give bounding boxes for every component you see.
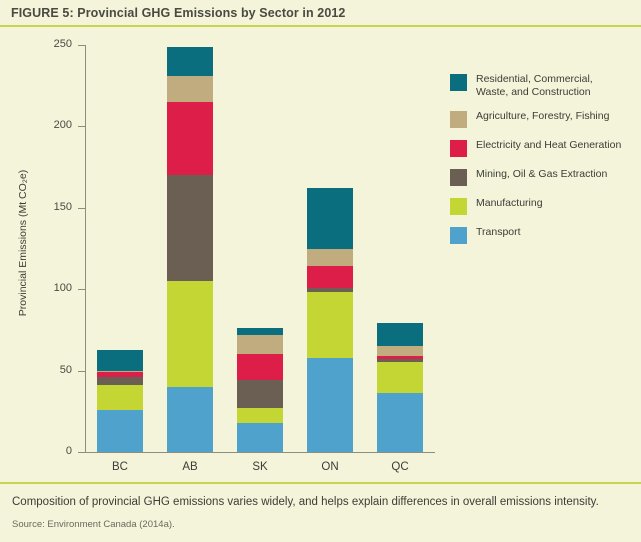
y-axis-tick <box>78 289 86 290</box>
y-axis-line <box>85 45 86 452</box>
legend-item-agriculture[interactable]: Agriculture, Forestry, Fishing <box>450 110 640 128</box>
bar-segment-transport[interactable] <box>237 423 283 452</box>
y-axis-tick <box>78 371 86 372</box>
legend-item-residential[interactable]: Residential, Commercial, Waste, and Cons… <box>450 73 640 99</box>
y-axis-title: Provincial Emissions (Mt CO₂e) <box>17 128 29 358</box>
bar-group-sk[interactable] <box>237 328 283 452</box>
bar-group-on[interactable] <box>307 188 353 452</box>
bar-segment-agriculture[interactable] <box>167 76 213 102</box>
x-axis-label-ab: AB <box>167 461 213 473</box>
x-axis-label-bc: BC <box>97 461 143 473</box>
bar-segment-agriculture[interactable] <box>237 335 283 355</box>
bar-segment-mining[interactable] <box>167 175 213 281</box>
y-axis-tick-label: 100 <box>28 282 72 294</box>
bar-segment-residential[interactable] <box>97 350 143 371</box>
bar-segment-manufacturing[interactable] <box>307 292 353 357</box>
bar-segment-residential[interactable] <box>167 47 213 76</box>
legend-label-residential: Residential, Commercial, Waste, and Cons… <box>476 73 593 99</box>
bar-segment-transport[interactable] <box>307 358 353 452</box>
x-axis-label-qc: QC <box>377 461 423 473</box>
y-axis-tick-label: 50 <box>28 364 72 376</box>
figure-title: FIGURE 5: Provincial GHG Emissions by Se… <box>11 6 345 20</box>
bar-segment-electricity[interactable] <box>167 102 213 175</box>
legend-swatch-manufacturing <box>450 198 467 215</box>
x-axis-label-sk: SK <box>237 461 283 473</box>
figure-container: FIGURE 5: Provincial GHG Emissions by Se… <box>0 0 641 542</box>
bar-group-ab[interactable] <box>167 47 213 452</box>
legend-swatch-residential <box>450 74 467 91</box>
bar-segment-transport[interactable] <box>167 387 213 452</box>
bar-stack <box>377 323 423 452</box>
legend-swatch-agriculture <box>450 111 467 128</box>
bar-segment-mining[interactable] <box>97 377 143 385</box>
x-axis-label-on: ON <box>307 461 353 473</box>
bar-stack <box>307 188 353 452</box>
bar-segment-agriculture[interactable] <box>377 346 423 356</box>
bar-segment-mining[interactable] <box>237 380 283 408</box>
legend-label-mining: Mining, Oil & Gas Extraction <box>476 168 607 181</box>
bar-segment-residential[interactable] <box>377 323 423 346</box>
bar-stack <box>167 47 213 452</box>
bar-group-qc[interactable] <box>377 323 423 452</box>
y-axis-tick <box>78 208 86 209</box>
legend-label-electricity: Electricity and Heat Generation <box>476 139 621 152</box>
bar-segment-transport[interactable] <box>97 410 143 452</box>
legend-swatch-electricity <box>450 140 467 157</box>
chart-legend: Residential, Commercial, Waste, and Cons… <box>450 73 640 255</box>
legend-item-mining[interactable]: Mining, Oil & Gas Extraction <box>450 168 640 186</box>
figure-header: FIGURE 5: Provincial GHG Emissions by Se… <box>0 0 641 27</box>
legend-item-electricity[interactable]: Electricity and Heat Generation <box>450 139 640 157</box>
chart-plot-region: 050100150200250 Provincial Emissions (Mt… <box>0 27 641 482</box>
y-axis-tick <box>78 45 86 46</box>
legend-label-manufacturing: Manufacturing <box>476 197 543 210</box>
legend-swatch-mining <box>450 169 467 186</box>
bar-segment-manufacturing[interactable] <box>97 385 143 409</box>
bar-group-bc[interactable] <box>97 350 143 452</box>
figure-caption: Composition of provincial GHG emissions … <box>12 495 629 510</box>
y-axis-tick-label: 0 <box>28 445 72 457</box>
y-axis-tick <box>78 452 86 453</box>
bar-segment-manufacturing[interactable] <box>167 281 213 387</box>
legend-item-transport[interactable]: Transport <box>450 226 640 244</box>
legend-label-agriculture: Agriculture, Forestry, Fishing <box>476 110 609 123</box>
legend-item-manufacturing[interactable]: Manufacturing <box>450 197 640 215</box>
y-axis-tick-label: 150 <box>28 201 72 213</box>
bar-segment-electricity[interactable] <box>307 266 353 287</box>
legend-swatch-transport <box>450 227 467 244</box>
figure-source: Source: Environment Canada (2014a). <box>12 519 629 530</box>
bar-stack <box>97 350 143 452</box>
x-axis-line <box>85 452 435 453</box>
legend-label-transport: Transport <box>476 226 521 239</box>
y-axis-tick-label: 250 <box>28 38 72 50</box>
bar-segment-residential[interactable] <box>307 188 353 248</box>
bar-segment-manufacturing[interactable] <box>377 362 423 393</box>
bar-segment-transport[interactable] <box>377 393 423 452</box>
y-axis-tick-label: 200 <box>28 119 72 131</box>
bar-segment-agriculture[interactable] <box>307 249 353 267</box>
bar-segment-manufacturing[interactable] <box>237 408 283 423</box>
y-axis-tick <box>78 126 86 127</box>
figure-footer: Composition of provincial GHG emissions … <box>0 482 641 542</box>
bar-segment-electricity[interactable] <box>237 354 283 380</box>
bar-stack <box>237 328 283 452</box>
